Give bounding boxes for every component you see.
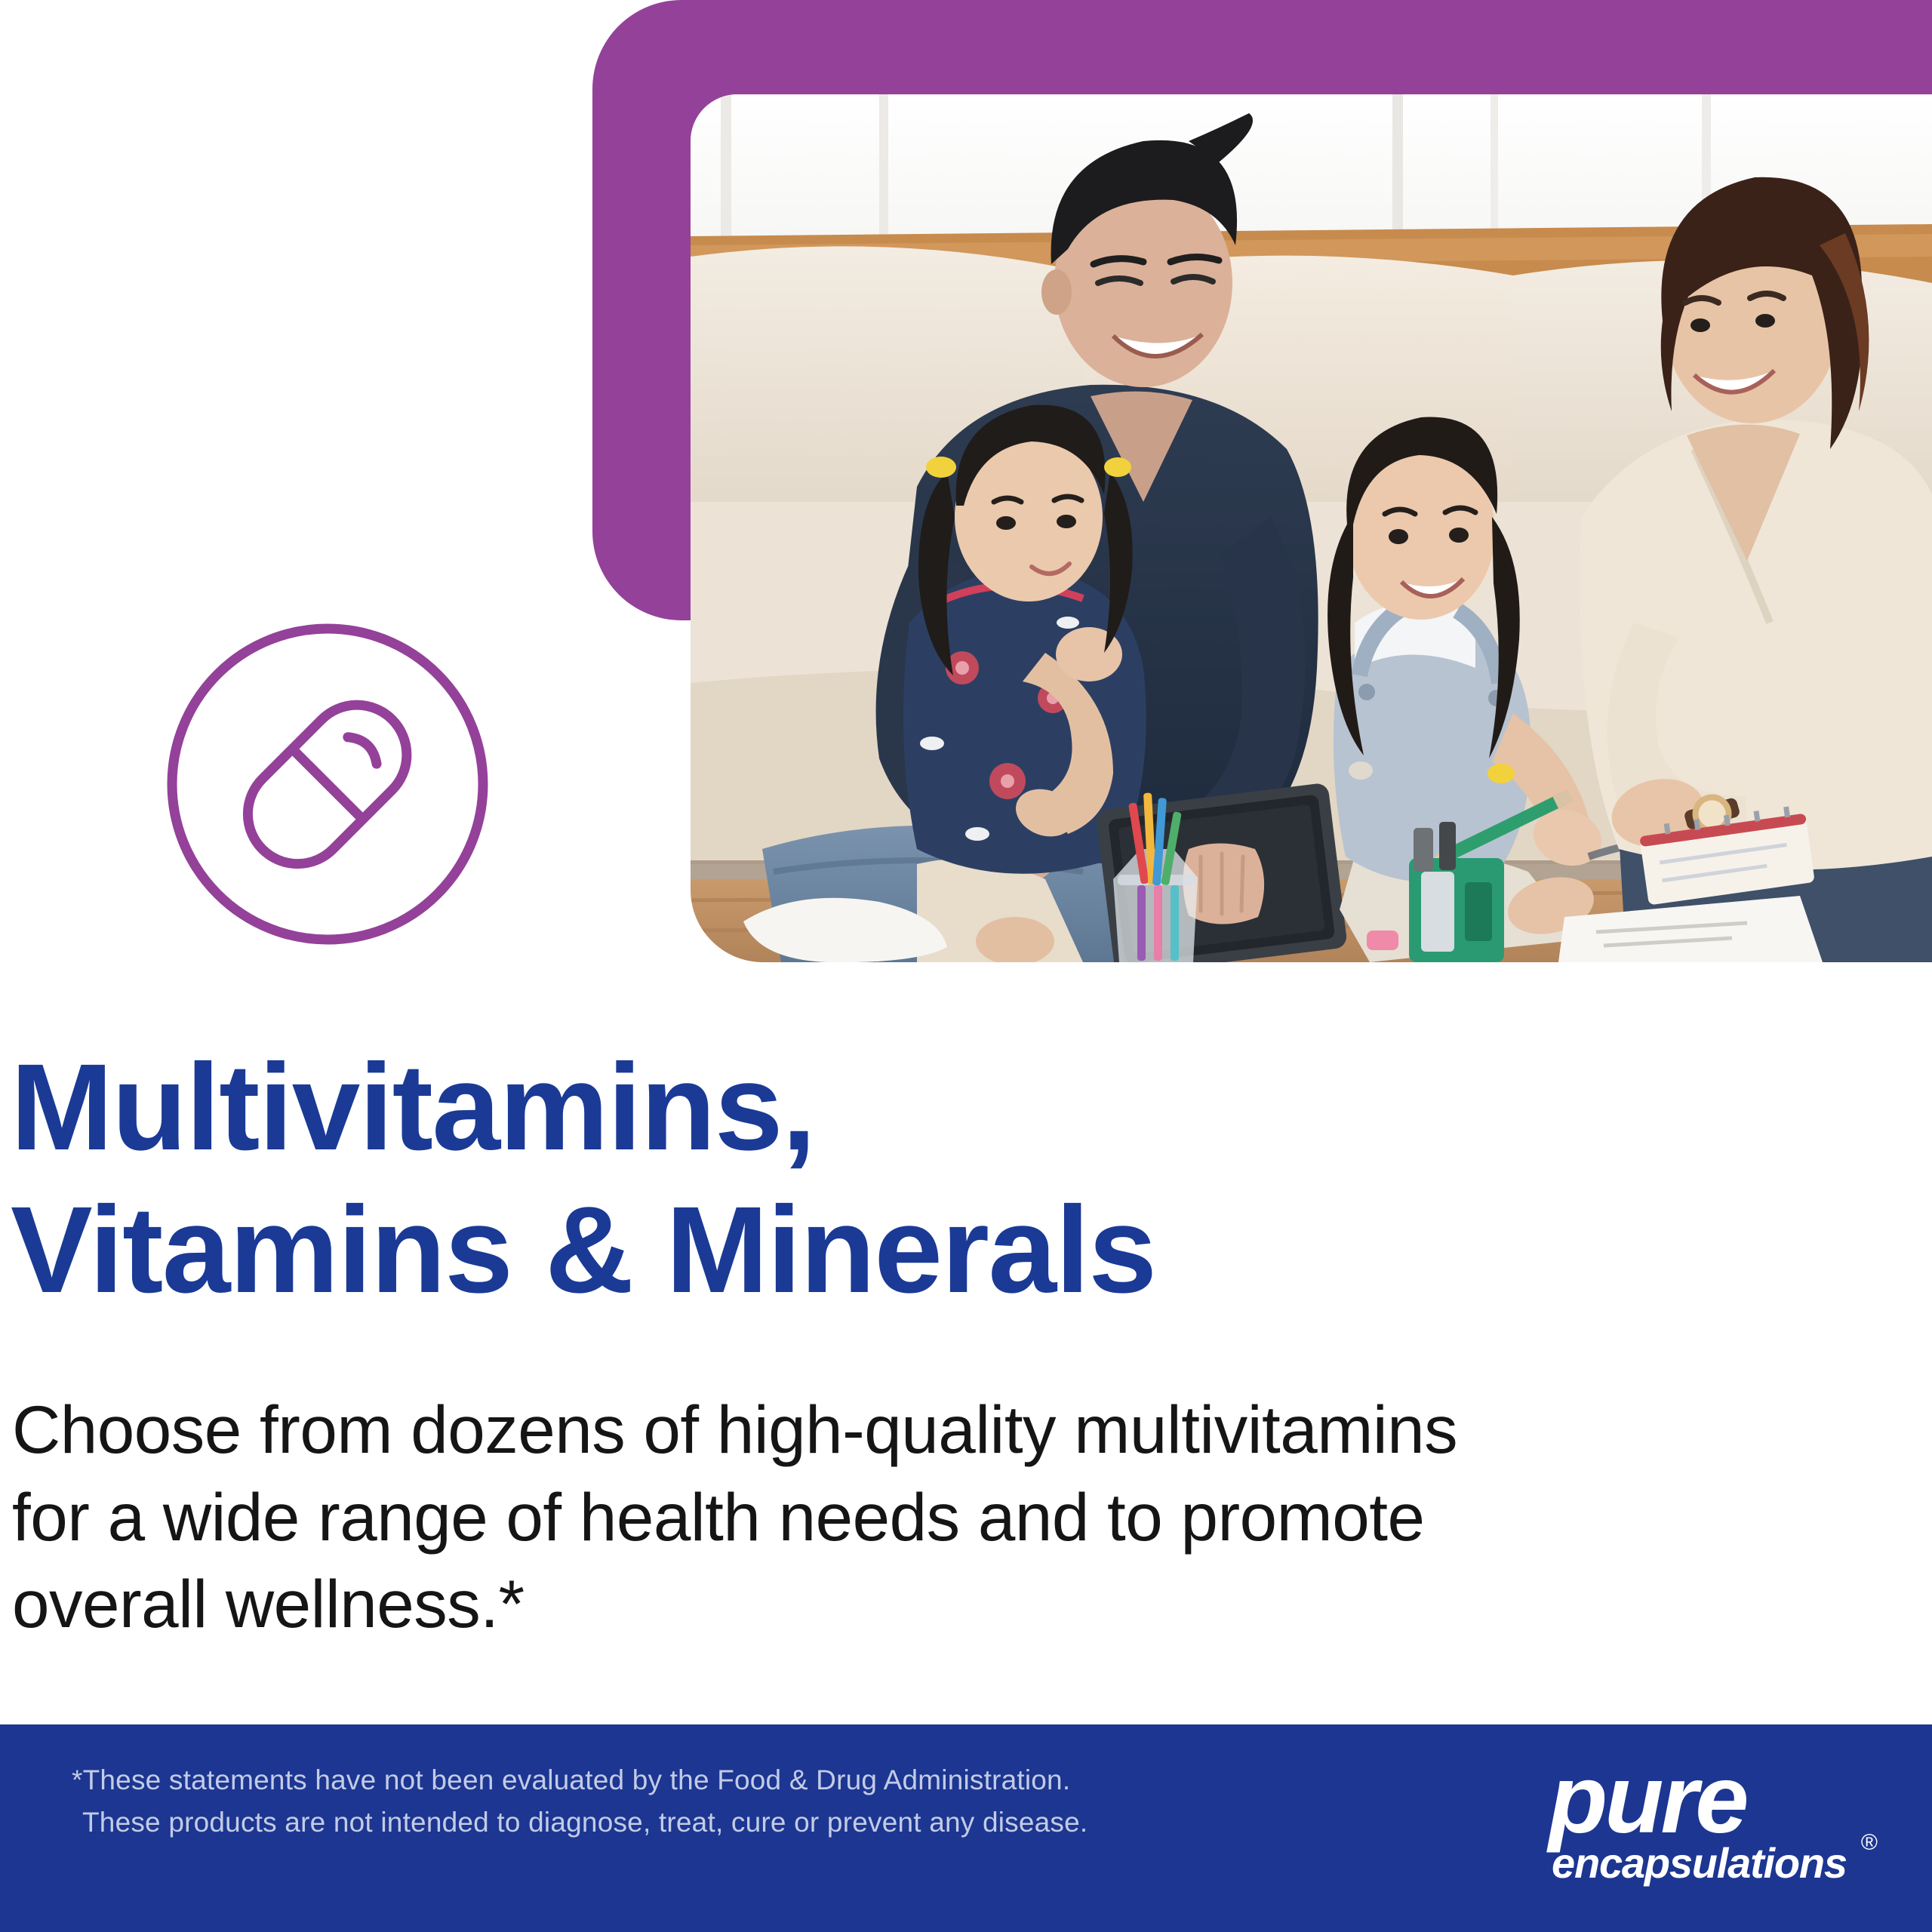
hero-section <box>0 0 1932 970</box>
subcopy-line-1: Choose from dozens of high-quality multi… <box>12 1386 1748 1474</box>
subcopy-line-3: overall wellness.* <box>12 1561 1748 1648</box>
headline-line-2: Vitamins & Minerals <box>11 1178 1595 1321</box>
headline-line-1: Multivitamins, <box>11 1035 1595 1178</box>
family-photo <box>691 94 1932 962</box>
pure-encapsulations-logo: pure encapsulations ® <box>1518 1761 1873 1897</box>
disclaimer-line-1: *These statements have not been evaluate… <box>72 1759 1088 1801</box>
capsule-pill-icon-svg <box>161 617 494 951</box>
disclaimer-line-2: These products are not intended to diagn… <box>72 1801 1088 1844</box>
capsule-pill-icon <box>161 617 494 951</box>
footer-bar: *These statements have not been evaluate… <box>0 1724 1932 1932</box>
page-title: Multivitamins, Vitamins & Minerals <box>11 1035 1595 1321</box>
logo-subwordmark: encapsulations <box>1552 1842 1847 1884</box>
registered-trademark-icon: ® <box>1861 1830 1878 1856</box>
family-photo-illustration <box>691 94 1932 962</box>
subcopy: Choose from dozens of high-quality multi… <box>12 1386 1748 1648</box>
fda-disclaimer: *These statements have not been evaluate… <box>72 1759 1088 1844</box>
logo-wordmark: pure <box>1549 1752 1746 1848</box>
subcopy-line-2: for a wide range of health needs and to … <box>12 1474 1748 1561</box>
